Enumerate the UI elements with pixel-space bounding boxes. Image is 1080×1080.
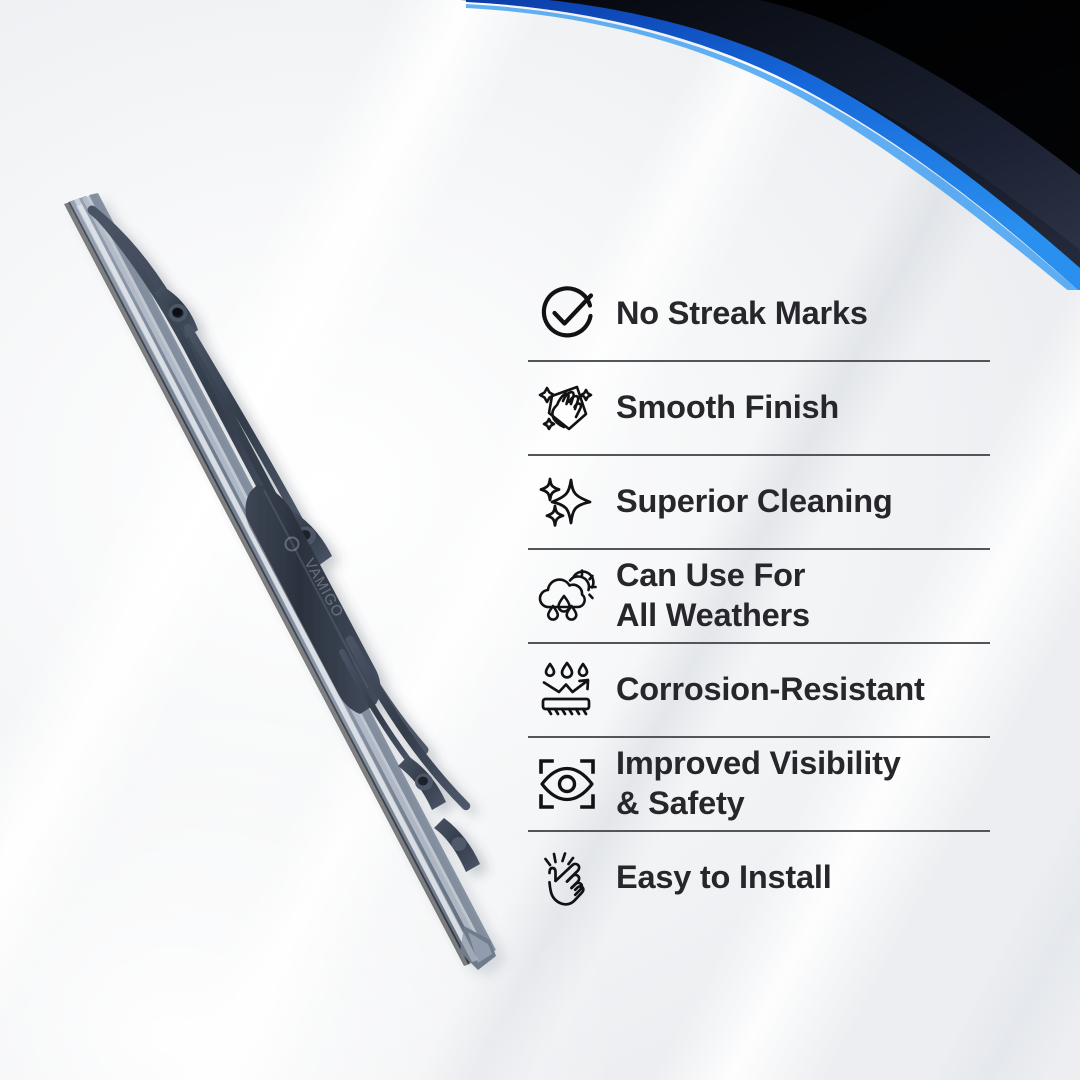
water-repellent-surface-icon: [528, 653, 606, 727]
feature-label: No Streak Marks: [606, 294, 992, 334]
feature-item-easy-to-install: Easy to Install: [528, 832, 992, 924]
check-circle-icon: [528, 277, 606, 351]
sparkles-icon: [528, 465, 606, 539]
feature-label: Corrosion-Resistant: [606, 670, 992, 710]
wiping-cloth-icon: [528, 371, 606, 445]
feature-item-corrosion-resistant: Corrosion-Resistant: [528, 644, 992, 736]
feature-item-smooth-finish: Smooth Finish: [528, 362, 992, 454]
sun-rain-cloud-icon: [528, 559, 606, 633]
feature-item-all-weathers: Can Use For All Weathers: [528, 550, 992, 642]
corner-swoosh-ribbon: [460, 0, 1080, 290]
feature-list: No Streak Marks Smooth Finish: [528, 268, 992, 924]
tapping-hand-icon: [528, 841, 606, 915]
feature-label: Improved Visibility & Safety: [606, 744, 992, 823]
feature-item-improved-visibility: Improved Visibility & Safety: [528, 738, 992, 830]
eye-focus-icon: [528, 747, 606, 821]
windshield-wiper-blade: VAMIGO: [20, 170, 540, 1000]
feature-label: Can Use For All Weathers: [606, 556, 992, 635]
feature-label: Smooth Finish: [606, 388, 992, 428]
product-feature-panel: VAMIGO: [0, 0, 1080, 1080]
feature-item-superior-cleaning: Superior Cleaning: [528, 456, 992, 548]
feature-label: Superior Cleaning: [606, 482, 992, 522]
feature-label: Easy to Install: [606, 858, 992, 898]
feature-item-no-streak-marks: No Streak Marks: [528, 268, 992, 360]
